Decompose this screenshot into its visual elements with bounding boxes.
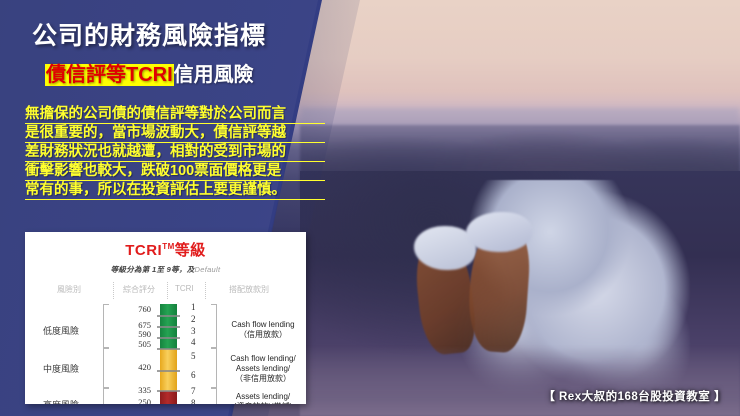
subtitle: 債信評等TCRI信用風險	[45, 63, 325, 87]
subtitle-highlight: 債信評等TCRI	[45, 64, 174, 86]
bracket-high-left	[103, 388, 109, 404]
tcri-grade: 7	[191, 386, 205, 396]
lending-type-high: Assets lending/ (資產放款)(當鋪)	[221, 392, 305, 404]
score-value: 590	[117, 329, 151, 339]
chart-title: TCRITM等級	[25, 239, 306, 260]
body-line: 是很重要的，當市場波動大，債信評等越	[25, 126, 325, 143]
column-divider	[113, 282, 114, 299]
lending-zh: (資產放款)(當鋪)	[221, 402, 305, 404]
chart-subtitle: 等級分為第 1至 9等，及Default	[25, 264, 306, 275]
lending-en2: Assets lending/	[221, 364, 305, 374]
subtitle-rest: 信用風險	[174, 64, 254, 86]
chart-subtitle-main: 等級分為第 1至 9等，及	[111, 265, 195, 274]
tcri-grade: 5	[191, 351, 205, 361]
bar-tick	[157, 348, 180, 350]
bracket-low-right	[211, 304, 217, 348]
bar-tick	[157, 315, 180, 317]
page-title: 公司的財務風險指標	[32, 22, 302, 51]
foreground-grass	[300, 346, 740, 416]
score-value: 335	[117, 385, 151, 395]
channel-watermark: 【 Rex大叔的168台股投資教室 】	[543, 388, 726, 404]
snow-cap-mid	[466, 212, 532, 252]
tcri-grade: 1	[191, 302, 205, 312]
column-header-tcri: TCRI	[175, 284, 194, 293]
chart-subtitle-default: Default	[195, 265, 221, 274]
score-value: 505	[117, 339, 151, 349]
tcri-grade: 2	[191, 314, 205, 324]
body-line: 衝擊影響也較大，跌破100票面價格更是	[25, 164, 325, 181]
risk-label-low: 低度風險	[43, 324, 79, 337]
lending-zh: （信用放款）	[221, 330, 305, 340]
lending-type-mid: Cash flow lending/ Assets lending/ （非信用放…	[221, 354, 305, 384]
color-segment-high-risk	[160, 391, 177, 404]
bar-tick	[157, 337, 180, 339]
lending-en: Cash flow lending	[221, 320, 305, 330]
chart-column-headers: 風險別 綜合評分 TCRI 搭配放款別	[25, 284, 306, 298]
body-line: 無擔保的公司債的債信評等對於公司而言	[25, 107, 325, 124]
risk-label-mid: 中度風險	[43, 362, 79, 375]
chart-rows: 低度風險 中度風險 高度風險 760 675 590 505 420 335 2…	[25, 298, 306, 404]
chart-title-main: TCRI	[125, 242, 162, 259]
column-divider	[167, 282, 168, 299]
bracket-mid-left	[103, 348, 109, 388]
lending-en: Assets lending/	[221, 392, 305, 402]
risk-label-high: 高度風險	[43, 398, 79, 404]
bar-tick	[157, 390, 180, 392]
lending-type-low: Cash flow lending （信用放款）	[221, 320, 305, 340]
chart-title-suffix: 等級	[175, 242, 206, 259]
bar-tick	[157, 326, 180, 328]
score-value: 250	[117, 397, 151, 404]
column-header-lending: 搭配放款別	[229, 284, 269, 295]
score-value: 760	[117, 304, 151, 314]
presentation-slide: 公司的財務風險指標 債信評等TCRI信用風險 無擔保的公司債的債信評等對於公司而…	[0, 0, 740, 416]
score-value: 420	[117, 362, 151, 372]
tcri-grade: 6	[191, 370, 205, 380]
tcri-grade: 8	[191, 398, 205, 404]
lending-zh: （非信用放款）	[221, 374, 305, 384]
trademark-symbol: TM	[162, 242, 175, 251]
bracket-low-left	[103, 304, 109, 348]
column-header-score: 綜合評分	[123, 284, 155, 295]
bracket-mid-right	[211, 348, 217, 388]
tcri-grade: 4	[191, 337, 205, 347]
tcri-grade: 3	[191, 326, 205, 336]
body-line: 差財務狀況也就越遭，相對的受到市場的	[25, 145, 325, 162]
body-line: 常有的事，所以在投資評估上要更謹慎。	[25, 183, 325, 200]
bar-tick	[157, 370, 180, 372]
risk-color-bar	[160, 304, 177, 404]
column-header-risk: 風險別	[57, 284, 81, 295]
tcri-grade-chart-card: TCRITM等級 等級分為第 1至 9等，及Default 風險別 綜合評分 T…	[25, 232, 306, 404]
column-divider	[205, 282, 206, 299]
bracket-high-right	[211, 388, 217, 404]
body-paragraph: 無擔保的公司債的債信評等對於公司而言 是很重要的，當市場波動大，債信評等越 差財…	[25, 107, 325, 202]
lending-en: Cash flow lending/	[221, 354, 305, 364]
